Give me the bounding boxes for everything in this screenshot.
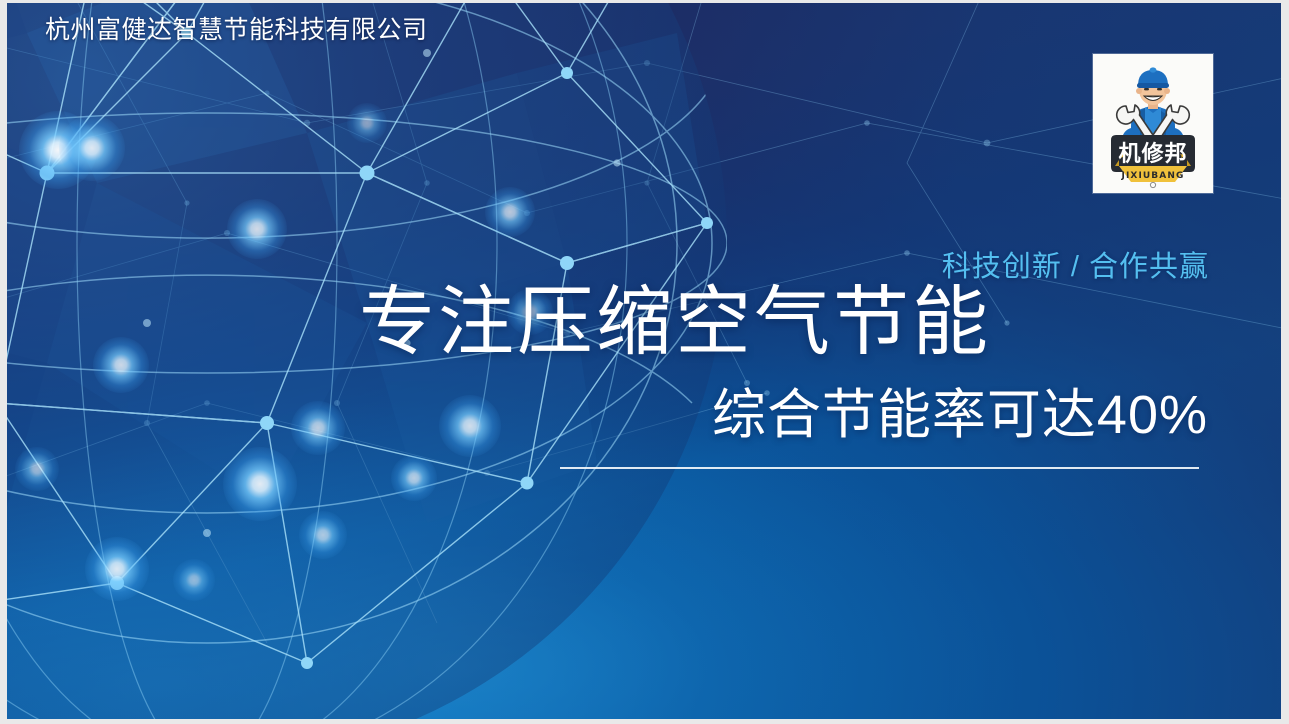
logo-brand-cn: 机修邦 — [1118, 141, 1187, 167]
banner-canvas: 杭州富健达智慧节能科技有限公司 科技创新 / 合作共赢 专注压缩空气节能 综合节… — [0, 0, 1289, 724]
divider-rule — [560, 467, 1199, 469]
subheadline: 综合节能率可达40% — [712, 386, 1208, 444]
tagline: 科技创新 / 合作共赢 — [942, 243, 1209, 285]
logo-artwork: ★ ★ 机修邦 JIXIUBANG — [1093, 54, 1213, 193]
headline: 专注压缩空气节能 — [359, 285, 991, 363]
company-name: 杭州富健达智慧节能科技有限公司 — [45, 15, 428, 45]
logo-brand-en: JIXIUBANG — [1121, 171, 1185, 181]
brand-logo[interactable]: ★ ★ 机修邦 JIXIUBANG — [1093, 54, 1213, 193]
artwork-area: 杭州富健达智慧节能科技有限公司 科技创新 / 合作共赢 专注压缩空气节能 综合节… — [7, 3, 1281, 719]
